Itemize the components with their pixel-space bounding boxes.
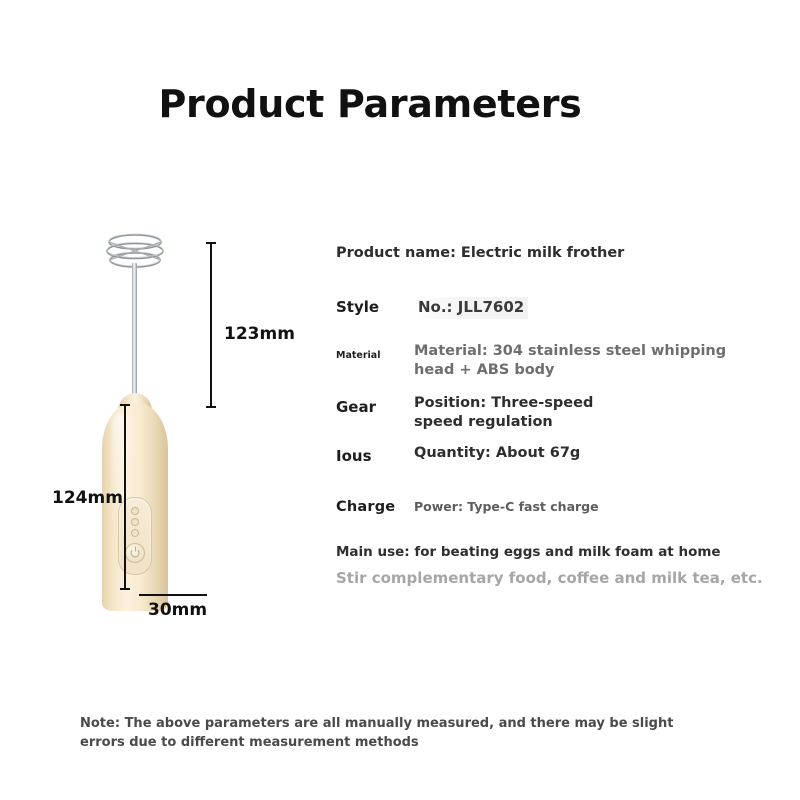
usage-secondary-text: Stir complementary food, coffee and milk… — [336, 569, 763, 587]
spec-label-style: Style — [336, 298, 379, 316]
page-title: Product Parameters — [0, 82, 740, 126]
spec-value-gear: Position: Three-speed speed regulation — [414, 394, 594, 432]
product-image — [40, 225, 320, 625]
spec-label-material: Material — [336, 350, 380, 361]
whisk-shaft — [132, 263, 137, 413]
led-indicator-2 — [131, 518, 139, 526]
spec-label-charge: Charge — [336, 499, 395, 515]
led-indicator-1 — [131, 507, 139, 515]
dimension-line-height-whisk — [210, 242, 212, 408]
dimension-label-height-whisk: 123mm — [224, 324, 295, 344]
dimension-line-height-handle — [124, 404, 126, 590]
spec-value-material: Material: 304 stainless steel whipping h… — [414, 342, 734, 380]
dimension-label-width-handle: 30mm — [148, 600, 207, 620]
power-icon — [131, 549, 140, 558]
footer-note: Note: The above parameters are all manua… — [80, 715, 700, 753]
power-button — [125, 543, 145, 563]
spec-label-gear: Gear — [336, 398, 376, 416]
spec-value-product-name: Product name: Electric milk frother — [336, 244, 624, 263]
spec-label-ious: Ious — [336, 447, 372, 465]
usage-main-text: Main use: for beating eggs and milk foam… — [336, 544, 721, 560]
dimension-label-height-handle: 124mm — [52, 488, 123, 508]
spec-value-charge: Power: Type-C fast charge — [414, 499, 599, 515]
dimension-line-width-handle — [139, 594, 207, 596]
led-indicator-3 — [131, 529, 139, 537]
spec-value-ious: Quantity: About 67g — [414, 444, 580, 463]
spec-value-style: No.: JLL7602 — [414, 297, 528, 319]
